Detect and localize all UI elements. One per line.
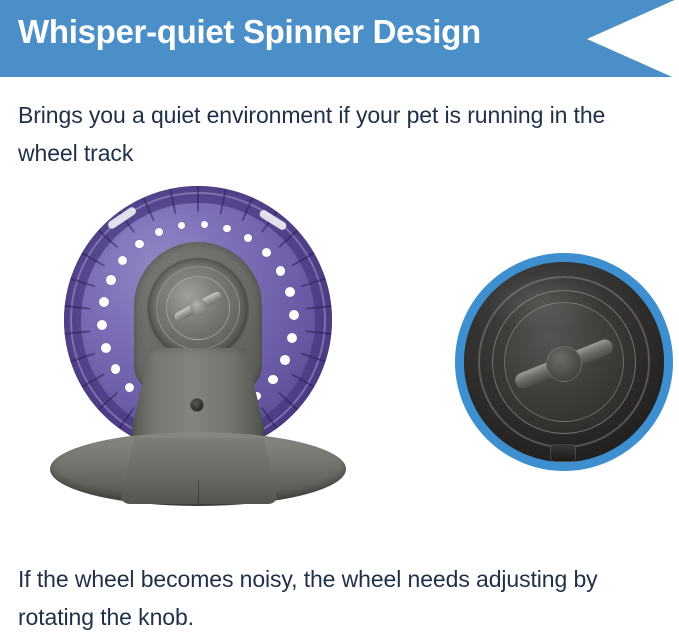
chevron-left-notch-icon [587,0,679,77]
wheel-vent-dot [101,343,111,353]
wheel-vent-dot [285,287,295,297]
wheel-vent-dot [276,266,286,276]
knob-closeup-callout [455,253,673,471]
spinner-wheel-product-image [46,180,366,525]
wheel-vent-dot [262,248,271,257]
wheel-vent-dot [289,310,299,320]
knob-handle-center-detail [546,346,582,382]
wheel-vent-dot [97,320,107,330]
wheel-vent-dot [178,222,186,230]
product-photo-stage [0,180,679,535]
wheel-vent-dot [118,256,127,265]
wheel-base-seam [198,480,199,504]
intro-paragraph: Brings you a quiet environment if your p… [18,96,666,172]
wheel-vent-dot [223,225,231,233]
knob-handle-center [190,299,207,316]
wheel-vent-dot [268,375,277,384]
wheel-vent-dot [155,228,163,236]
wheel-vent-dot [287,333,297,343]
knob-bottom-notch [550,444,576,462]
header-banner: Whisper-quiet Spinner Design [0,0,679,77]
wheel-vent-dot [99,297,109,307]
wheel-vent-dot [135,240,144,249]
banner-title: Whisper-quiet Spinner Design [18,14,481,50]
wheel-base-plate [120,438,278,504]
wheel-vent-dot [280,355,290,365]
wheel-vent-dot [111,364,121,374]
wheel-vent-dot [106,275,116,285]
stand-screw-icon [190,398,204,412]
instruction-paragraph: If the wheel becomes noisy, the wheel ne… [18,560,666,636]
wheel-vent-dot [201,221,208,228]
wheel-vent-dot [244,234,253,243]
knob-gloss-highlight [482,272,602,332]
wheel-vent-dot [125,383,134,392]
